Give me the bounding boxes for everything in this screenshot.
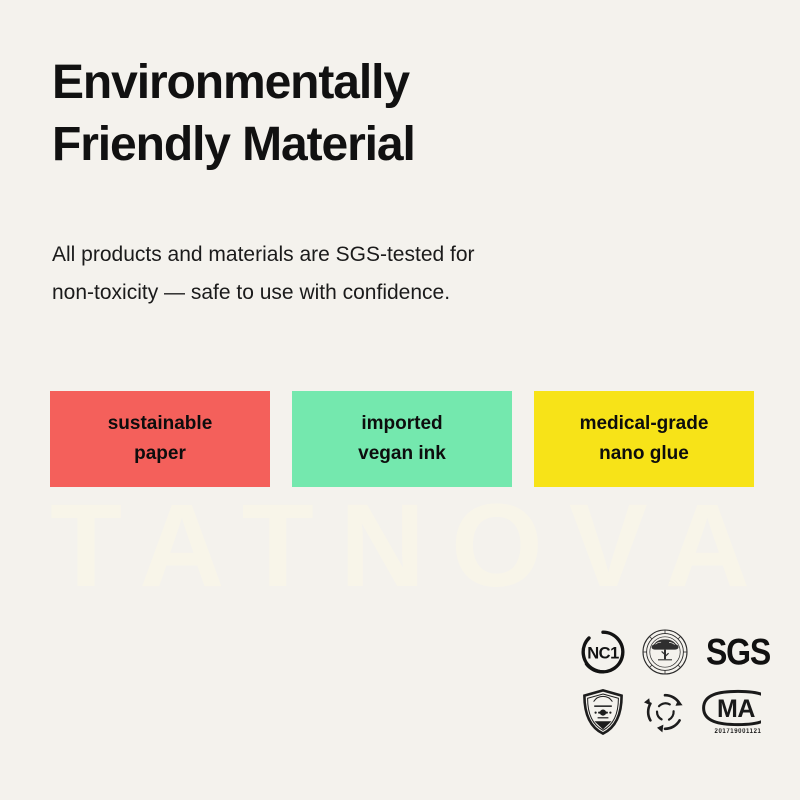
tree-seal-certification-badge-icon (641, 628, 689, 676)
material-chip-sustainable-paper: sustainable paper (50, 391, 270, 487)
page-subtitle-line-1: All products and materials are SGS-teste… (52, 236, 652, 274)
sgs-certification-badge-icon: SGS (705, 635, 771, 669)
sgs-certification-badge-label: SGS (706, 633, 770, 671)
svg-text:MA: MA (717, 695, 755, 723)
shield-certification-badge-icon (581, 688, 625, 736)
svg-text:NC1: NC1 (587, 645, 619, 663)
page-subtitle-line-2: non-toxicity — safe to use with confiden… (52, 274, 652, 312)
page-subtitle: All products and materials are SGS-teste… (52, 236, 652, 312)
material-chip-label-line-2: vegan ink (358, 439, 446, 469)
cma-certification-badge-icon: MA 201719001121 (701, 689, 775, 735)
material-chip-label-line-2: paper (134, 439, 186, 469)
page-title: Environmentally Friendly Material (52, 52, 692, 176)
recycling-certification-badge-icon (642, 689, 688, 735)
page-title-line-1: Environmentally (52, 52, 692, 114)
poster-content: Environmentally Friendly Material All pr… (0, 0, 800, 800)
certification-badge-group: NC1 (572, 622, 780, 742)
material-chip-label-line-1: imported (361, 409, 442, 439)
cma-certification-badge-code: 201719001121 (715, 729, 762, 736)
material-chip-medical-grade-nano-glue: medical-grade nano glue (534, 391, 754, 487)
material-chip-imported-vegan-ink: imported vegan ink (292, 391, 512, 487)
nc1-certification-badge-icon: NC1 (580, 629, 626, 675)
material-chip-group: sustainable paper imported vegan ink med… (50, 391, 754, 487)
material-chip-label-line-2: nano glue (599, 439, 689, 469)
material-chip-label-line-1: sustainable (108, 409, 213, 439)
page-title-line-2: Friendly Material (52, 114, 692, 176)
material-chip-label-line-1: medical-grade (580, 409, 709, 439)
